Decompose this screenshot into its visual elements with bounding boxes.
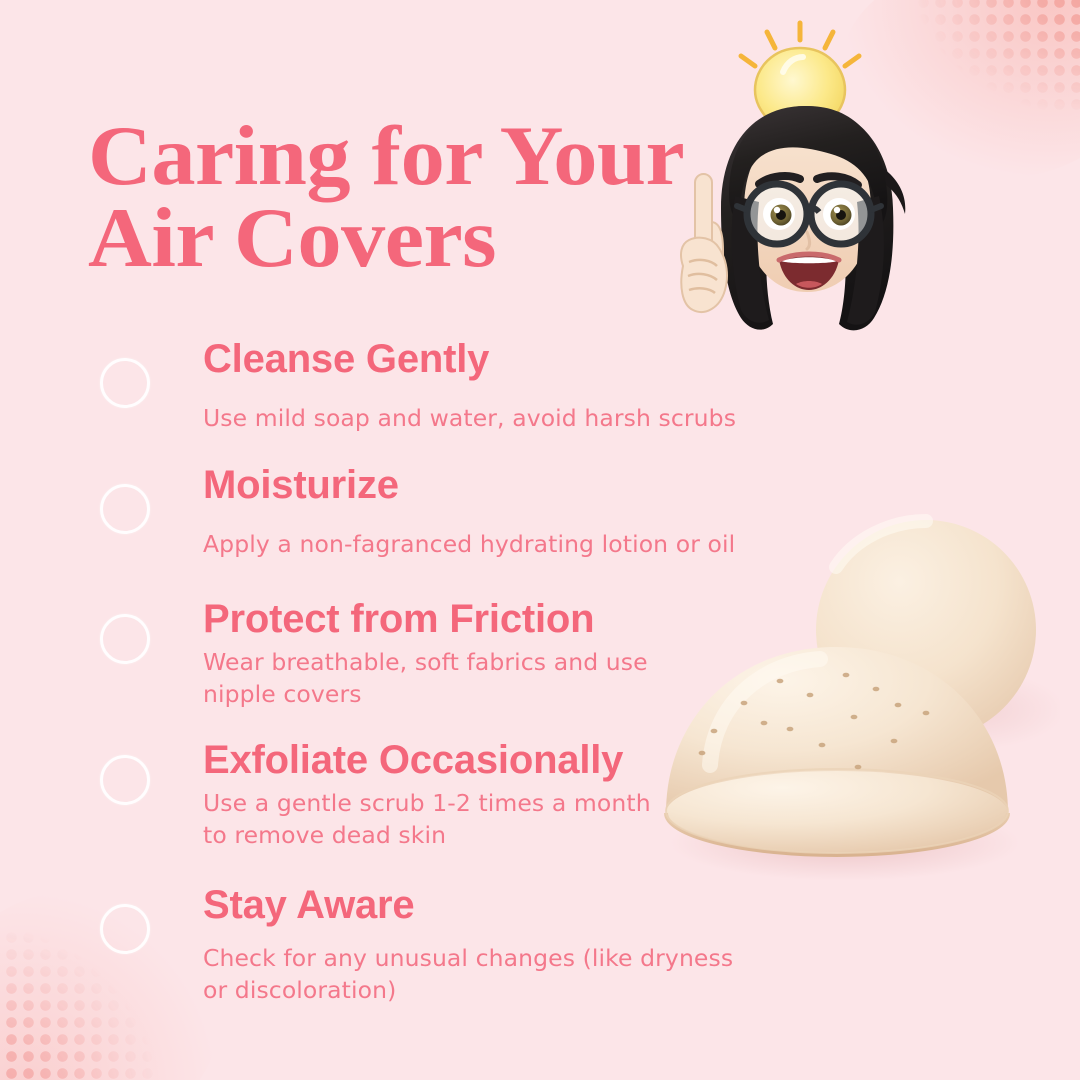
circle-outline-icon xyxy=(100,904,150,954)
list-item[interactable]: Exfoliate Occasionally Use a gentle scru… xyxy=(0,739,1080,852)
list-item[interactable]: Cleanse Gently Use mild soap and water, … xyxy=(0,338,1080,434)
tips-list: Cleanse Gently Use mild soap and water, … xyxy=(0,338,1080,1012)
tip-description: Apply a non-fagranced hydrating lotion o… xyxy=(203,528,1080,560)
tip-heading: Stay Aware xyxy=(203,884,1080,926)
pointing-up-hand xyxy=(681,174,727,312)
tip-heading: Cleanse Gently xyxy=(203,338,1080,380)
poster-canvas: Caring for Your Air Covers xyxy=(0,0,1080,1080)
page-title-line-1: Caring for Your xyxy=(88,115,754,197)
circle-outline-icon xyxy=(100,358,150,408)
page-title: Caring for Your Air Covers xyxy=(88,115,754,280)
tip-heading: Exfoliate Occasionally xyxy=(203,739,1080,781)
tip-description: Use a gentle scrub 1-2 times a month to … xyxy=(203,787,1080,852)
tip-description: Use mild soap and water, avoid harsh scr… xyxy=(203,402,1080,434)
tip-heading: Protect from Friction xyxy=(203,598,1080,640)
memoji-avatar xyxy=(655,18,965,348)
list-item[interactable]: Stay Aware Check for any unusual changes… xyxy=(0,884,1080,1007)
tip-description: Wear breathable, soft fabrics and use ni… xyxy=(203,646,1080,711)
circle-outline-icon xyxy=(100,484,150,534)
circle-outline-icon xyxy=(100,755,150,805)
list-item[interactable]: Protect from Friction Wear breathable, s… xyxy=(0,598,1080,711)
tip-heading: Moisturize xyxy=(203,464,1080,506)
list-item[interactable]: Moisturize Apply a non-fagranced hydrati… xyxy=(0,464,1080,560)
page-title-line-2: Air Covers xyxy=(88,197,754,279)
tip-description: Check for any unusual changes (like dryn… xyxy=(203,942,1080,1007)
circle-outline-icon xyxy=(100,614,150,664)
